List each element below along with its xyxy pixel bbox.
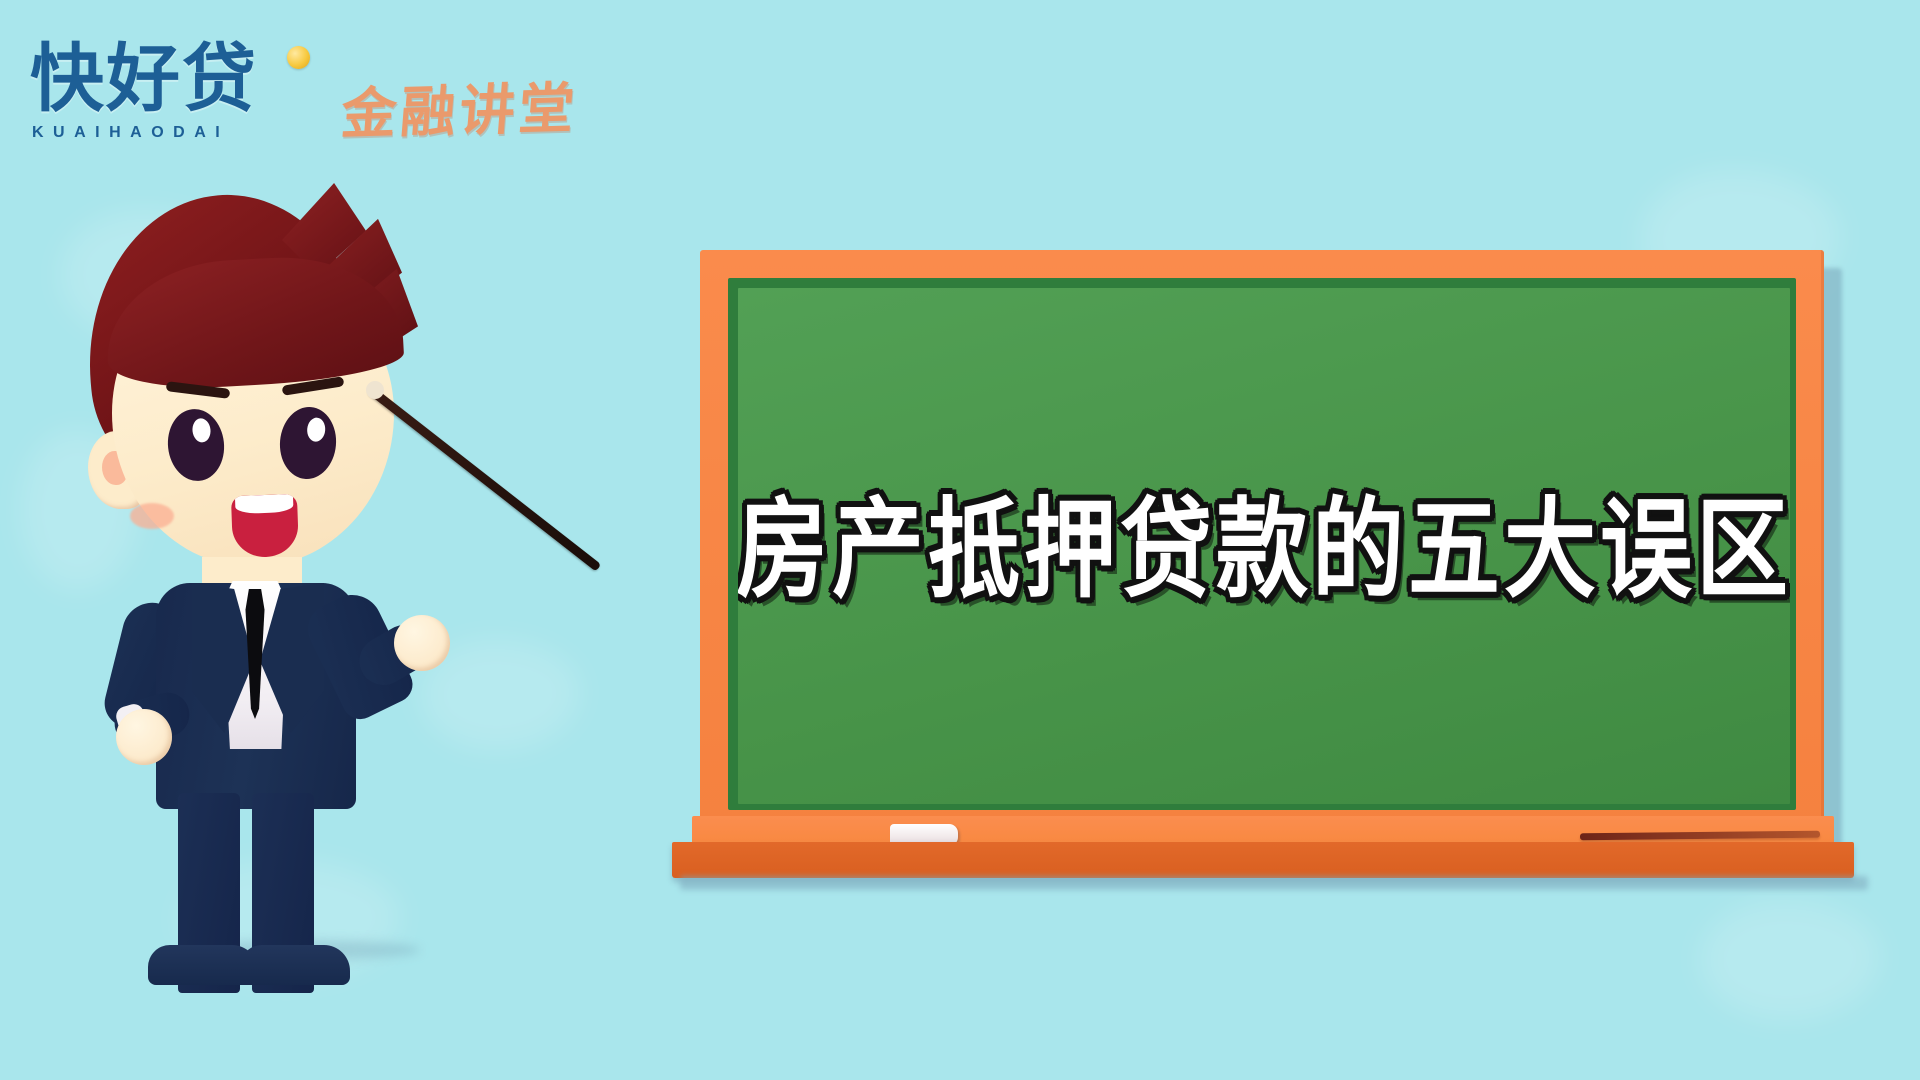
page-title: 房产抵押贷款的五大误区 bbox=[738, 462, 1790, 619]
teaching-pointer-grip bbox=[366, 381, 384, 399]
blackboard-inner-edge: 房产抵押贷款的五大误区 bbox=[728, 278, 1796, 810]
mascot-hand-left bbox=[116, 709, 172, 765]
brand-logo-latin: KUAIHAODAI bbox=[32, 124, 229, 142]
teacher-boy-mascot bbox=[70, 185, 590, 985]
blackboard-ledge-front bbox=[672, 842, 1854, 878]
slide-canvas: 快好贷 KUAIHAODAI 金融讲堂 房产抵押贷款的五大误区 bbox=[0, 0, 1920, 1080]
bg-blotch bbox=[1700, 900, 1880, 1020]
blackboard-ledge-shadow bbox=[680, 876, 1868, 890]
mascot-hand-right bbox=[394, 615, 450, 671]
mascot-cheek-blush bbox=[130, 503, 174, 529]
blackboard-surface: 房产抵押贷款的五大误区 bbox=[738, 288, 1790, 804]
brand-logo: 快好贷 KUAIHAODAI 金融讲堂 bbox=[22, 40, 662, 160]
teaching-pointer-icon bbox=[367, 386, 601, 572]
blackboard-frame: 房产抵押贷款的五大误区 bbox=[700, 250, 1824, 838]
brand-logo-chinese: 快好贷 bbox=[30, 42, 258, 116]
blackboard: 房产抵押贷款的五大误区 bbox=[700, 250, 1850, 890]
brand-subtitle: 金融讲堂 bbox=[339, 63, 582, 149]
mascot-shoe-right bbox=[240, 945, 350, 985]
gold-coin-icon bbox=[287, 46, 310, 69]
